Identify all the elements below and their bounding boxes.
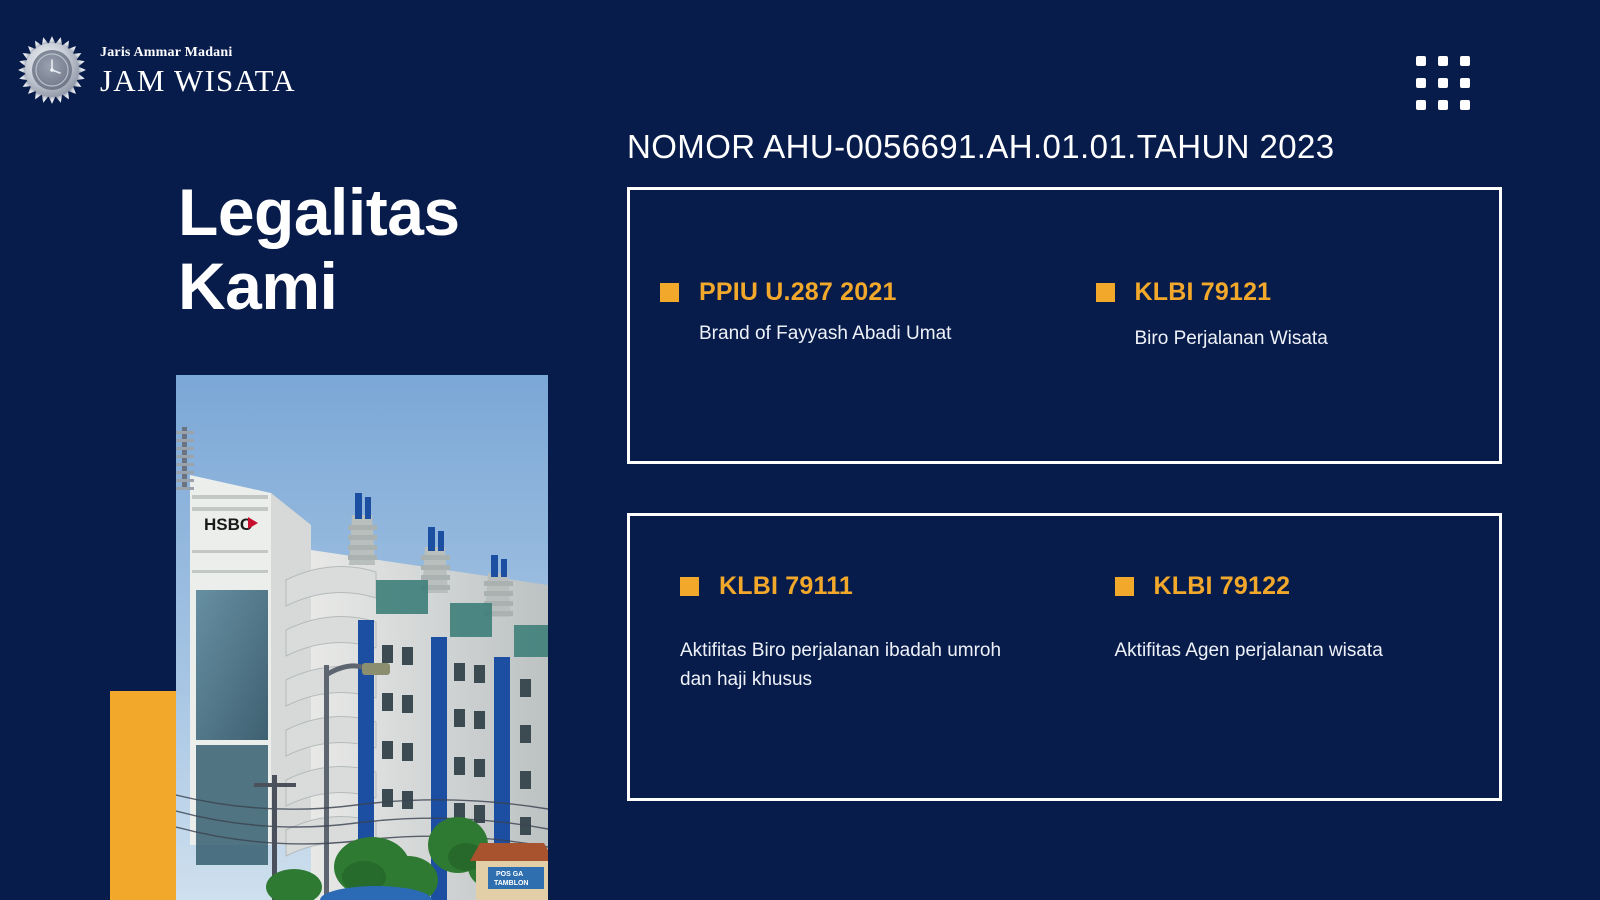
svg-text:POS GA: POS GA xyxy=(496,871,523,878)
dot xyxy=(1460,78,1470,88)
bullet-square-icon xyxy=(680,577,699,596)
accent-rectangle xyxy=(110,691,178,900)
dot xyxy=(1460,100,1470,110)
certification-code: KLBI 79122 xyxy=(1154,572,1291,601)
nomor-heading: NOMOR AHU-0056691.AH.01.01.TAHUN 2023 xyxy=(627,128,1335,166)
dot xyxy=(1416,100,1426,110)
page-title: Legalitas Kami xyxy=(178,176,608,324)
dot xyxy=(1438,100,1448,110)
dot xyxy=(1416,56,1426,66)
certification-item: PPIU U.287 2021 Brand of Fayyash Abadi U… xyxy=(630,190,1065,461)
certification-description: Aktifitas Biro perjalanan ibadah umroh d… xyxy=(680,637,1010,694)
certification-description: Biro Perjalanan Wisata xyxy=(1135,325,1500,354)
bullet-square-icon xyxy=(1096,283,1115,302)
certification-code: KLBI 79121 xyxy=(1135,278,1272,307)
bullet-square-icon xyxy=(660,283,679,302)
dot xyxy=(1438,78,1448,88)
certification-description: Aktifitas Agen perjalanan wisata xyxy=(1115,637,1445,666)
certification-item: KLBI 79121 Biro Perjalanan Wisata xyxy=(1065,190,1500,461)
certification-box-2: KLBI 79111 Aktifitas Biro perjalanan iba… xyxy=(627,513,1502,801)
svg-text:HSBC: HSBC xyxy=(204,515,252,534)
certification-box-1: PPIU U.287 2021 Brand of Fayyash Abadi U… xyxy=(627,187,1502,464)
clock-medallion-icon xyxy=(18,36,86,104)
certification-header: KLBI 79121 xyxy=(1096,278,1500,307)
certification-header: KLBI 79122 xyxy=(1115,572,1500,601)
office-building-photo: HSBC xyxy=(176,375,548,900)
dot xyxy=(1416,78,1426,88)
certification-code: PPIU U.287 2021 xyxy=(699,278,897,307)
certification-header: PPIU U.287 2021 xyxy=(660,278,1065,307)
brand-logo: Jaris Ammar Madani JAM WISATA xyxy=(18,36,296,104)
svg-text:TAMBLON: TAMBLON xyxy=(494,880,528,887)
certification-code: KLBI 79111 xyxy=(719,572,853,601)
dot-grid-icon xyxy=(1416,56,1470,110)
certification-description: Brand of Fayyash Abadi Umat xyxy=(699,320,1065,349)
certification-item: KLBI 79111 Aktifitas Biro perjalanan iba… xyxy=(630,516,1065,798)
brand-tagline: Jaris Ammar Madani xyxy=(100,46,296,60)
brand-name: JAM WISATA xyxy=(100,65,296,96)
certification-item: KLBI 79122 Aktifitas Agen perjalanan wis… xyxy=(1065,516,1500,798)
brand-wordmark: Jaris Ammar Madani JAM WISATA xyxy=(100,44,296,96)
certification-header: KLBI 79111 xyxy=(680,572,1065,601)
bullet-square-icon xyxy=(1115,577,1134,596)
dot xyxy=(1460,56,1470,66)
slide-root: Jaris Ammar Madani JAM WISATA Legalitas … xyxy=(0,0,1600,900)
dot xyxy=(1438,56,1448,66)
